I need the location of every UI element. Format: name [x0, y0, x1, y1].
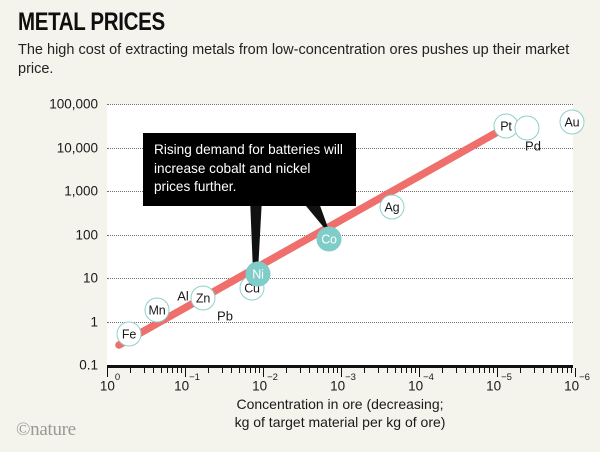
data-point-Fe[interactable]: Fe: [117, 322, 142, 347]
ytick-label-10000: 10,000: [26, 140, 98, 155]
data-point-Ni[interactable]: Ni: [246, 262, 271, 287]
data-point-Mn[interactable]: Mn: [145, 298, 170, 323]
gridline-1: [107, 322, 573, 323]
xtick-major-0: [107, 368, 108, 377]
xtick-major-1: [185, 368, 186, 377]
data-point-Zn[interactable]: Zn: [191, 286, 216, 311]
data-point-Ag[interactable]: Ag: [380, 195, 405, 220]
data-label-Pb: Pb: [217, 309, 233, 324]
data-point-Co[interactable]: Co: [317, 227, 342, 252]
figure: METAL PRICES The high cost of extracting…: [0, 0, 600, 452]
x-axis-title-line2: kg of target material per kg of ore): [235, 414, 446, 430]
xtick-label-1: 10−1: [174, 377, 200, 394]
xtick-label-4: 10−4: [408, 377, 434, 394]
xtick-label-3: 10−3: [330, 377, 356, 394]
xtick-major-5: [497, 368, 498, 377]
xtick-label-2: 10−2: [252, 377, 278, 394]
x-axis-title-line1: Concentration in ore (decreasing;: [236, 396, 443, 412]
ytick-label-0.1: 0.1: [26, 358, 98, 373]
ytick-label-100000: 100,000: [26, 97, 98, 112]
ytick-label-100: 100: [26, 227, 98, 242]
ytick-label-1: 1: [26, 314, 98, 329]
gridline-10: [107, 278, 573, 279]
xtick-major-4: [419, 368, 420, 377]
data-point-Pd[interactable]: [515, 116, 540, 141]
xtick-major-2: [263, 368, 264, 377]
data-label-Pd: Pd: [525, 139, 541, 154]
data-label-Al: Al: [177, 289, 189, 304]
subtitle: The high cost of extracting metals from …: [18, 41, 586, 79]
annotation-callout: Rising demand for batteries will increas…: [143, 133, 356, 206]
ytick-label-1000: 1,000: [26, 184, 98, 199]
data-point-Au[interactable]: Au: [560, 110, 585, 135]
gridline-100000: [107, 104, 573, 105]
x-axis-title: Concentration in ore (decreasing; kg of …: [107, 396, 573, 431]
xtick-label-5: 10−5: [486, 377, 512, 394]
page-title: METAL PRICES: [18, 8, 165, 37]
nature-logo: ©nature: [16, 419, 76, 441]
xtick-label-6: 10−6: [564, 377, 590, 394]
ytick-label-10: 10: [26, 271, 98, 286]
xtick-major-3: [341, 368, 342, 377]
xtick-label-0: 100: [100, 377, 120, 394]
xtick-major-6: [575, 368, 576, 377]
